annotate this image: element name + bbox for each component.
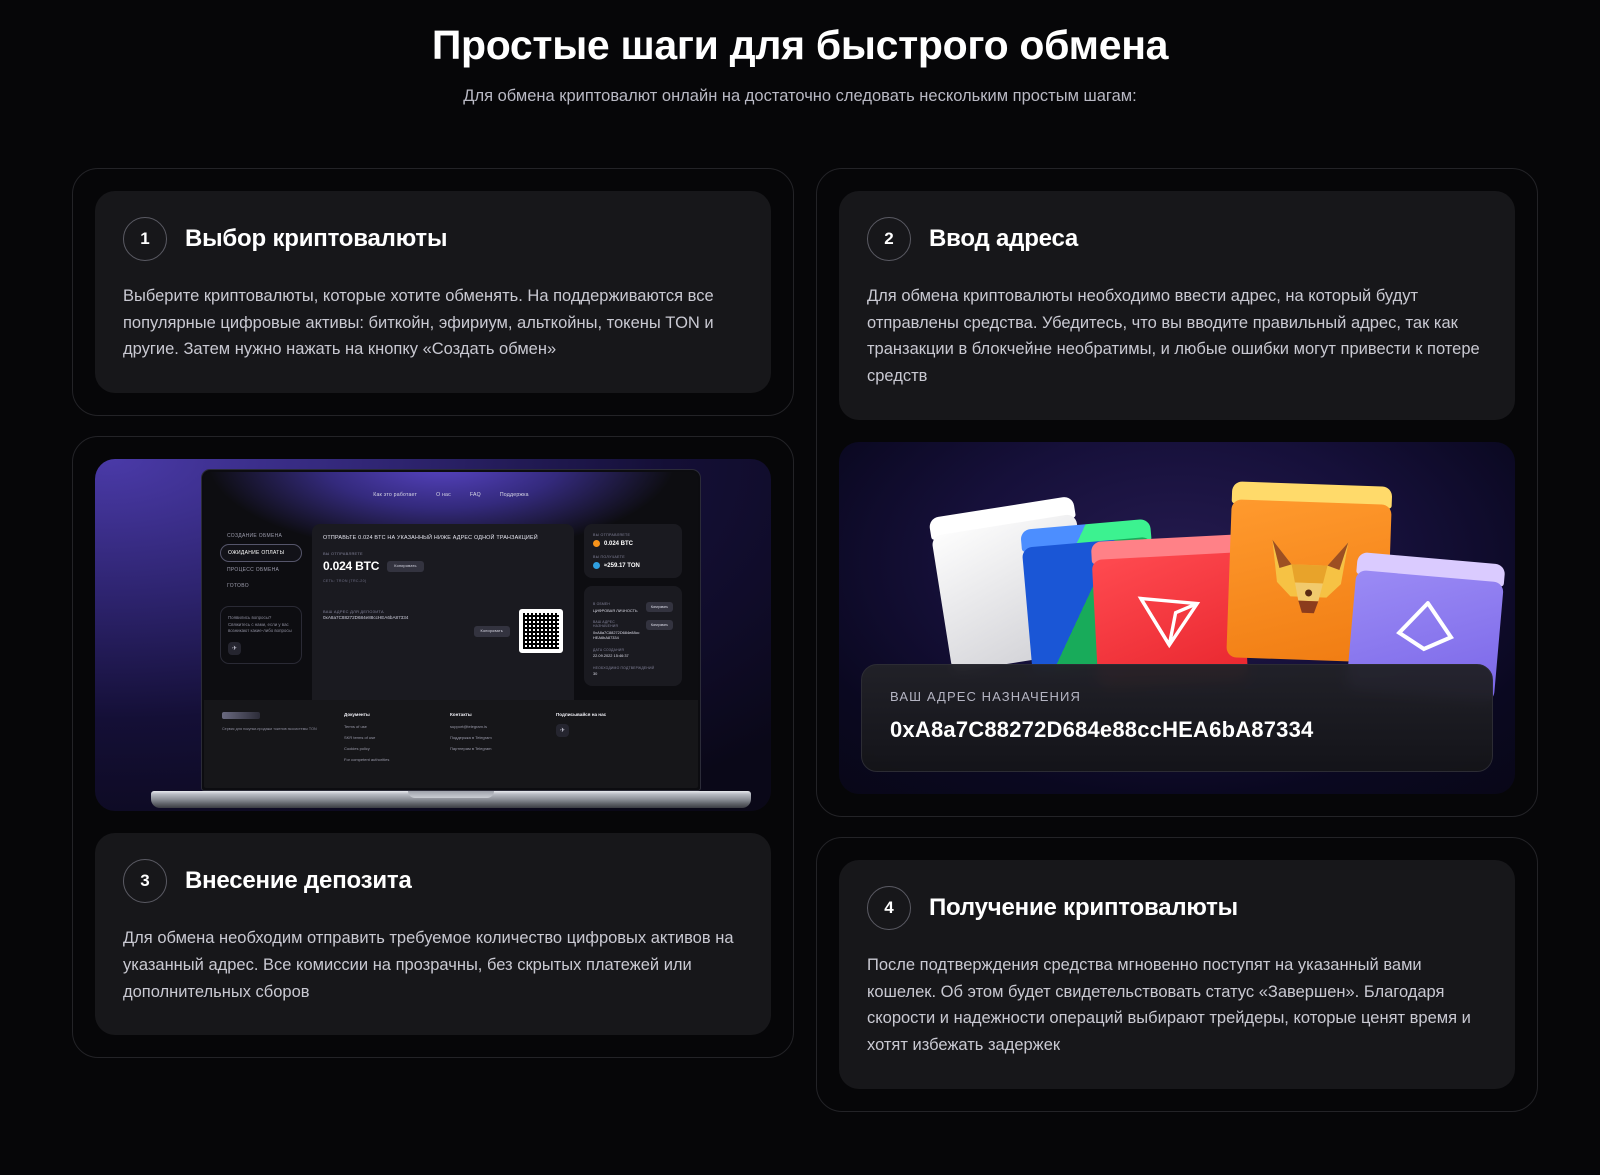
- mock-footer-docs-link-0[interactable]: Terms of use: [344, 724, 436, 729]
- step-1-title: Выбор криптовалюты: [185, 225, 447, 253]
- mock-footer-col-docs: Документы Terms of use SKR terms of use …: [344, 712, 436, 776]
- qr-code-icon: [519, 609, 563, 653]
- mock-amount-row: 0.024 BTC Копировать: [323, 559, 563, 573]
- step-3-container: Как это работает О нас FAQ Поддержка СОЗ…: [72, 436, 794, 1058]
- mock-detail-copy-0[interactable]: Копировать: [646, 602, 673, 612]
- laptop-screen-content: Как это работает О нас FAQ Поддержка СОЗ…: [204, 472, 698, 788]
- mock-footer-docs-link-2[interactable]: Cookies policy: [344, 746, 436, 751]
- step-2-head: 2 Ввод адреса: [867, 217, 1487, 261]
- destination-address-value: 0xA8a7C88272D684e88ccHEA6bA87334: [890, 717, 1464, 743]
- page-subtitle: Для обмена криптовалют онлайн на достато…: [0, 87, 1600, 106]
- page-root: Простые шаги для быстрого обмена Для обм…: [0, 0, 1600, 1175]
- mock-side-receive-value: ≈259.17 TON: [593, 562, 673, 569]
- left-column: 1 Выбор криптовалюты Выберите криптовалю…: [72, 168, 794, 1058]
- mock-footer-docs-link-1[interactable]: SKR terms of use: [344, 735, 436, 740]
- step-2-text: Для обмена криптовалюты необходимо ввест…: [867, 283, 1487, 390]
- mock-copy-amount-button[interactable]: Копировать: [387, 561, 423, 572]
- right-column: 2 Ввод адреса Для обмена криптовалюты не…: [816, 168, 1538, 1112]
- step-4-text: После подтверждения средства мгновенно п…: [867, 952, 1487, 1059]
- mock-send-label: ВЫ ОТПРАВЛЯЕТЕ: [323, 551, 563, 556]
- destination-address-box: ВАШ АДРЕС НАЗНАЧЕНИЯ 0xA8a7C88272D684e88…: [861, 664, 1493, 772]
- step-2-number: 2: [867, 217, 911, 261]
- mock-footer-col-contacts: Контакты support@telegram.is Поддержка в…: [450, 712, 542, 776]
- mock-summary-card: ВЫ ОТПРАВЛЯЕТЕ 0.024 BTC ВЫ ПОЛУЧАЕТЕ ≈2…: [584, 524, 682, 578]
- mock-copy-address-button[interactable]: Копировать: [474, 626, 510, 637]
- telegram-icon[interactable]: ✈: [556, 724, 569, 737]
- step-3-card: 3 Внесение депозита Для обмена необходим…: [95, 833, 771, 1035]
- btc-coin-icon: [593, 540, 600, 547]
- mock-footer-contacts-link-1[interactable]: Поддержка в Telegram: [450, 735, 542, 740]
- step-3-head: 3 Внесение депозита: [123, 859, 743, 903]
- mock-footer-brand: Сервис для покупки-продажи токенов экоси…: [222, 712, 330, 776]
- mock-address-wrap: ВАШ АДРЕС ДЛЯ ДЕПОЗИТА 0xA8a7C88272D684e…: [323, 609, 465, 621]
- step-3-text: Для обмена необходим отправить требуемое…: [123, 925, 743, 1005]
- mock-side-receive-label: ВЫ ПОЛУЧАЕТЕ: [593, 555, 673, 559]
- mock-side-send-value: 0.024 BTC: [593, 540, 673, 547]
- mock-detail-row-2: ДАТА СОЗДАНИЯ22.09.2022 15:46:37: [593, 648, 673, 659]
- step-3-title: Внесение депозита: [185, 867, 412, 895]
- mock-step-2[interactable]: ПРОЦЕСС ОБМЕНА: [220, 562, 302, 578]
- step-1-number: 1: [123, 217, 167, 261]
- mock-step-0[interactable]: СОЗДАНИЕ ОБМЕНА: [220, 528, 302, 544]
- mock-footer-brand-text: Сервис для покупки-продажи токенов экоси…: [222, 727, 330, 733]
- wallet-cubes: [839, 480, 1515, 680]
- mock-footer-contacts-title: Контакты: [450, 712, 542, 717]
- mock-address-block: ВАШ АДРЕС ДЛЯ ДЕПОЗИТА 0xA8a7C88272D684e…: [323, 609, 563, 653]
- mock-nav: Как это работает О нас FAQ Поддержка: [204, 492, 698, 498]
- laptop-base: [151, 791, 751, 808]
- mock-step-3[interactable]: ГОТОВО: [220, 578, 302, 594]
- mock-detail-row-0: В ОБМЕНЦИФРОВАЯ ЛИЧНОСТЬ Копировать: [593, 602, 673, 613]
- mock-nav-item-1[interactable]: О нас: [436, 492, 451, 498]
- mock-footer-col-social: Подписывайся на нас ✈: [556, 712, 648, 776]
- step-1-container: 1 Выбор криптовалюты Выберите криптовалю…: [72, 168, 794, 416]
- ton-coin-icon: [593, 562, 600, 569]
- laptop-notch: [408, 791, 494, 798]
- mock-footer-contacts-link-2[interactable]: Партнерам в Telegram: [450, 746, 542, 751]
- step-4-title: Получение криптовалюты: [929, 894, 1238, 922]
- step-2-card: 2 Ввод адреса Для обмена криптовалюты не…: [839, 191, 1515, 420]
- destination-address-label: ВАШ АДРЕС НАЗНАЧЕНИЯ: [890, 689, 1464, 704]
- step-4-card: 4 Получение криптовалюты После подтвержд…: [839, 860, 1515, 1089]
- mock-step-1[interactable]: ОЖИДАНИЕ ОПЛАТЫ: [220, 544, 302, 562]
- mock-nav-item-2[interactable]: FAQ: [470, 492, 481, 498]
- page-title: Простые шаги для быстрого обмена: [0, 22, 1600, 69]
- step-1-card: 1 Выбор криптовалюты Выберите криптовалю…: [95, 191, 771, 393]
- mock-instruction: ОТПРАВЬТЕ 0.024 BTC НА УКАЗАННЫЙ НИЖЕ АД…: [323, 534, 563, 542]
- mock-network: СЕТЬ: TRON (TRC-20): [323, 579, 563, 583]
- mock-footer-docs-link-3[interactable]: For competent authorities: [344, 757, 436, 762]
- step-1-head: 1 Выбор криптовалюты: [123, 217, 743, 261]
- mock-footer-contacts-link-0[interactable]: support@telegram.is: [450, 724, 542, 729]
- mock-footer-docs-title: Документы: [344, 712, 436, 717]
- mock-detail-row-1: ВАШ АДРЕС НАЗНАЧЕНИЯ0xA8a7C88272D684e88c…: [593, 620, 673, 640]
- wallet-illustration-panel: ВАШ АДРЕС НАЗНАЧЕНИЯ 0xA8a7C88272D684e88…: [839, 442, 1515, 794]
- step-1-text: Выберите криптовалюты, которые хотите об…: [123, 283, 743, 363]
- mock-detail-copy-1[interactable]: Копировать: [646, 620, 673, 630]
- mock-site-footer: Сервис для покупки-продажи токенов экоси…: [204, 700, 698, 788]
- mock-nav-item-3[interactable]: Поддержка: [500, 492, 529, 498]
- steps-grid: 1 Выбор криптовалюты Выберите криптовалю…: [72, 168, 1528, 1112]
- mock-detail-row-3: НЕОБХОДИМО ПОДТВЕРЖДЕНИЙ30: [593, 666, 673, 677]
- step-2-container: 2 Ввод адреса Для обмена криптовалюты не…: [816, 168, 1538, 817]
- brand-logo-icon: [222, 712, 260, 719]
- mock-help-box: Появились вопросы? Свяжитесь с нами, есл…: [220, 606, 302, 664]
- mock-side-send-label: ВЫ ОТПРАВЛЯЕТЕ: [593, 533, 673, 537]
- page-header: Простые шаги для быстрого обмена Для обм…: [0, 0, 1600, 106]
- laptop-device: Как это работает О нас FAQ Поддержка СОЗ…: [201, 463, 701, 811]
- mock-amount: 0.024 BTC: [323, 559, 379, 573]
- step-2-title: Ввод адреса: [929, 225, 1078, 253]
- mock-address-value: 0xA8a7C88272D684e88ccHEA6bA87334: [323, 614, 431, 621]
- mock-help-text: Появились вопросы? Свяжитесь с нами, есл…: [228, 615, 294, 635]
- step-4-head: 4 Получение криптовалюты: [867, 886, 1487, 930]
- step-4-number: 4: [867, 886, 911, 930]
- laptop-screen: Как это работает О нас FAQ Поддержка СОЗ…: [201, 469, 701, 791]
- step-3-number: 3: [123, 859, 167, 903]
- mock-nav-item-0[interactable]: Как это работает: [373, 492, 417, 498]
- telegram-icon[interactable]: ✈: [228, 642, 241, 655]
- step-4-container: 4 Получение криптовалюты После подтвержд…: [816, 837, 1538, 1112]
- laptop-illustration-panel: Как это работает О нас FAQ Поддержка СОЗ…: [95, 459, 771, 811]
- mock-details-card: В ОБМЕНЦИФРОВАЯ ЛИЧНОСТЬ Копировать ВАШ …: [584, 586, 682, 685]
- mock-footer-social-title: Подписывайся на нас: [556, 712, 648, 717]
